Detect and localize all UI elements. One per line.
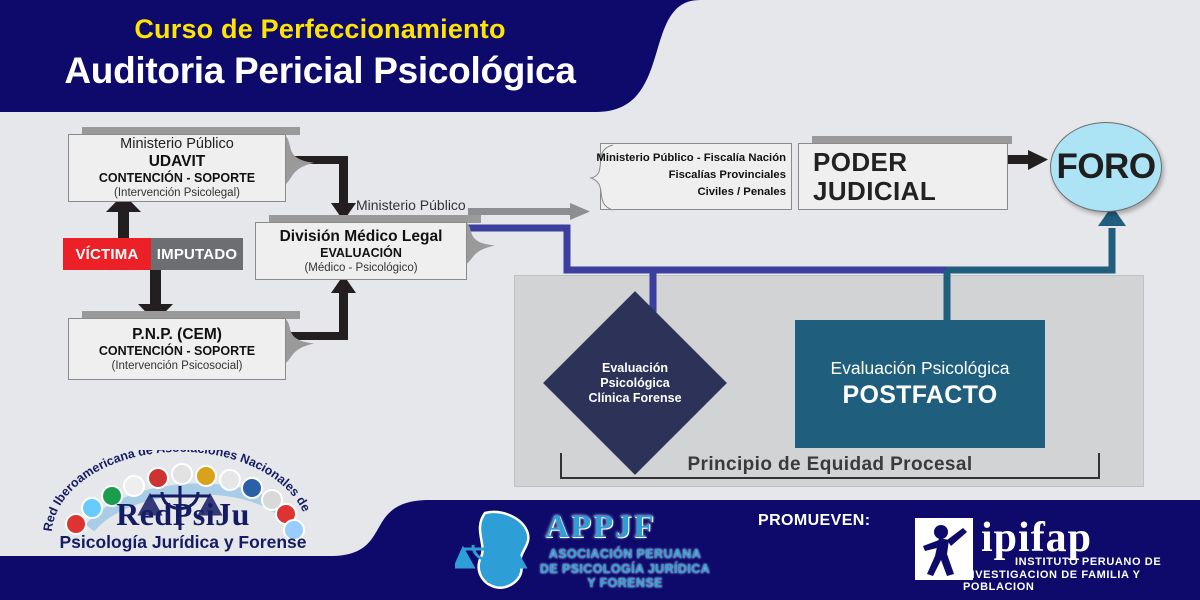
flow-label-ministerio-publico: Ministerio Público — [356, 197, 466, 213]
box-dml-line2: División Médico Legal — [280, 228, 443, 246]
poder-judicial-line2: JUDICIAL — [813, 177, 936, 206]
postfacto-line1: Evaluación Psicológica — [831, 357, 1010, 380]
ipifap-wordmark: ipifap — [981, 514, 1092, 562]
diamond-line1: Evaluación — [602, 361, 668, 376]
diamond-line3: Clínica Forense — [588, 391, 681, 406]
box-fiscalia-line1: Ministerio Público - Fiscalía Nación — [596, 150, 786, 167]
box-division-medico-legal[interactable]: División Médico Legal EVALUACIÓN (Médico… — [255, 222, 467, 280]
box-poder-judicial[interactable]: PODER JUDICIAL — [798, 143, 1008, 210]
badge-imputado[interactable]: IMPUTADO — [151, 238, 243, 270]
box-dml-body: División Médico Legal EVALUACIÓN (Médico… — [255, 222, 467, 280]
box-udavit[interactable]: Ministerio Público UDAVIT CONTENCIÓN - S… — [68, 134, 286, 202]
box-udavit-line3: CONTENCIÓN - SOPORTE — [99, 171, 255, 186]
box-pnp-line3: CONTENCIÓN - SOPORTE — [99, 344, 255, 359]
ipifap-tagline-line1: INSTITUTO PERUANO DE — [1015, 556, 1161, 568]
box-fiscalia-lines: Ministerio Público - Fiscalía Nación Fis… — [596, 150, 786, 201]
appjf-wordmark: APPJF — [545, 509, 656, 546]
box-fiscalia-line2: Fiscalías Provinciales — [596, 167, 786, 184]
box-dml-line4: (Médico - Psicológico) — [304, 261, 417, 275]
box-pnp[interactable]: P.N.P. (CEM) CONTENCIÓN - SOPORTE (Inter… — [68, 318, 286, 380]
appjf-tagline-line1: ASOCIACIÓN PERUANA — [515, 547, 735, 562]
node-foro[interactable]: FORO — [1050, 122, 1162, 212]
box-pnp-body: P.N.P. (CEM) CONTENCIÓN - SOPORTE (Inter… — [68, 318, 286, 380]
box-fiscalia-line3: Civiles / Penales — [596, 184, 786, 201]
victima-imputado-group: VÍCTIMA IMPUTADO — [63, 238, 243, 270]
box-dml-line3: EVALUACIÓN — [320, 246, 402, 261]
node-postfacto[interactable]: Evaluación Psicológica POSTFACTO — [795, 320, 1045, 448]
diamond-line2: Psicológica — [600, 376, 669, 391]
badge-victima[interactable]: VÍCTIMA — [63, 238, 151, 270]
promueven-label: PROMUEVEN: — [758, 512, 870, 530]
appjf-tagline: ASOCIACIÓN PERUANA DE PSICOLOGÍA JURÍDIC… — [515, 547, 735, 591]
box-fiscalia[interactable]: Ministerio Público - Fiscalía Nación Fis… — [600, 143, 792, 210]
node-evaluacion-clinica-forense[interactable]: Evaluación Psicológica Clínica Forense — [570, 318, 700, 448]
appjf-tagline-line3: Y FORENSE — [515, 576, 735, 591]
box-udavit-line1: Ministerio Público — [120, 136, 234, 153]
box-udavit-body: Ministerio Público UDAVIT CONTENCIÓN - S… — [68, 134, 286, 202]
appjf-tagline-line2: DE PSICOLOGÍA JURÍDICA — [515, 562, 735, 577]
box-pnp-line4: (Intervención Psicosocial) — [111, 359, 242, 373]
equity-label: Principio de Equidad Procesal — [560, 452, 1100, 478]
postfacto-line2: POSTFACTO — [842, 380, 997, 411]
box-udavit-line2: UDAVIT — [149, 153, 206, 171]
box-pnp-line2: P.N.P. (CEM) — [132, 326, 222, 344]
header-navy-shape — [0, 0, 1200, 118]
redpsiju-tagline: Psicología Jurídica y Forense — [38, 532, 328, 553]
header-band: Curso de Perfeccionamiento Auditoria Per… — [0, 0, 1200, 118]
poder-judicial-line1: PODER — [813, 148, 907, 177]
poster-canvas: Curso de Perfeccionamiento Auditoria Per… — [0, 0, 1200, 600]
redpsiju-wordmark: RedPsiJu — [68, 496, 298, 533]
arrow-dml-to-fiscalia — [468, 203, 590, 220]
logo-appjf: APPJF ASOCIACIÓN PERUANA DE PSICOLOGÍA J… — [455, 505, 745, 600]
foro-label: FORO — [1056, 147, 1155, 187]
box-udavit-line4: (Intervención Psicolegal) — [114, 186, 240, 200]
logo-redpsiju: Red Iberoamericana de Asociaciones Nacio… — [30, 450, 330, 570]
ipifap-tagline-line2: INVESTIGACION DE FAMILIA Y POBLACION — [963, 569, 1185, 593]
logo-ipifap: ipifap INSTITUTO PERUANO DE INVESTIGACIO… — [915, 516, 1185, 590]
